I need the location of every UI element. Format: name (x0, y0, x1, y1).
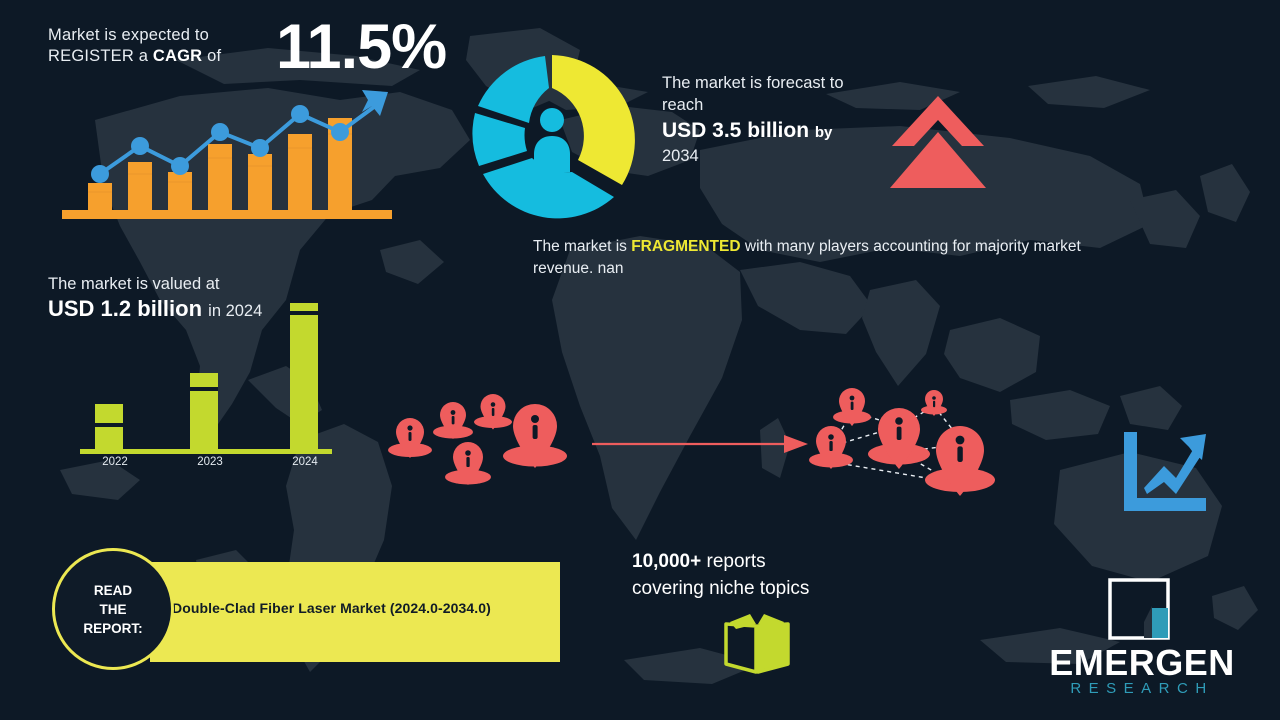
read-the-report-label: READ THE REPORT: (83, 581, 142, 638)
donut-people-chart-icon (462, 50, 642, 230)
reports-count-line2: covering niche topics (632, 575, 892, 602)
cagr-label-line1: Market is expected to (48, 26, 209, 44)
market-value-bar-chart (80, 295, 340, 475)
logo-wordmark: EMERGEN (1022, 642, 1262, 684)
fragmented-line1: The market is FRAGMENTED with many playe… (533, 236, 1213, 258)
fragmented-suffix: with many players accounting for majorit… (741, 238, 1081, 255)
forecast-line1: The market is forecast to (662, 74, 844, 92)
fragmented-prefix: The market is (533, 238, 631, 255)
orange-bar-line-chart-icon (62, 82, 412, 222)
green-chart-label-2023: 2023 (180, 456, 240, 468)
double-up-arrow-icon (888, 96, 988, 188)
cagr-label: Market is expected to REGISTER a CAGR of (48, 20, 268, 67)
infographic-canvas: Market is expected to REGISTER a CAGR of… (0, 0, 1280, 720)
reports-count-line1: 10,000+ reports (632, 548, 892, 575)
scattered-location-pins-icon (380, 388, 580, 498)
growth-arrow-chart-icon (1118, 428, 1210, 520)
forecast-value-row: USD 3.5 billion by (662, 118, 887, 146)
reports-count-number: 10,000+ (632, 551, 701, 572)
forecast-block: The market is forecast to reach USD 3.5 … (662, 72, 887, 167)
forecast-value: USD 3.5 billion (662, 119, 809, 142)
green-chart-label-2024: 2024 (275, 456, 335, 468)
fragmented-line2: revenue. nan (533, 258, 1213, 280)
logo-subtitle: RESEARCH (1022, 680, 1262, 697)
cagr-label-prefix: REGISTER a (48, 47, 153, 65)
forecast-value-suffix: by (815, 124, 833, 141)
cagr-value: 11.5% (276, 16, 446, 79)
reports-count-block: 10,000+ reports covering niche topics (632, 548, 892, 602)
cagr-block: Market is expected to REGISTER a CAGR of… (48, 20, 468, 67)
valuation-lead: The market is valued at (48, 273, 348, 295)
cagr-label-suffix: of (202, 47, 221, 65)
reports-count-word: reports (701, 551, 765, 572)
forecast-lead: The market is forecast to reach (662, 72, 887, 116)
fragmented-highlight: FRAGMENTED (631, 238, 740, 255)
open-book-icon (720, 612, 794, 674)
emergen-research-logo: EMERGEN RESEARCH (1022, 578, 1262, 698)
green-chart-label-2022: 2022 (85, 456, 145, 468)
report-title[interactable]: Double-Clad Fiber Laser Market (2024.0-2… (172, 600, 552, 616)
read-the-report-badge[interactable]: READ THE REPORT: (52, 548, 174, 670)
forecast-line2: reach (662, 96, 703, 114)
fragmented-statement: The market is FRAGMENTED with many playe… (533, 236, 1213, 280)
square-chart-mark-icon (1108, 578, 1170, 640)
cagr-label-bold: CAGR (153, 47, 202, 65)
right-arrow-icon (592, 430, 808, 458)
connected-location-pins-icon (800, 382, 1020, 502)
forecast-year: 2034 (662, 146, 887, 167)
